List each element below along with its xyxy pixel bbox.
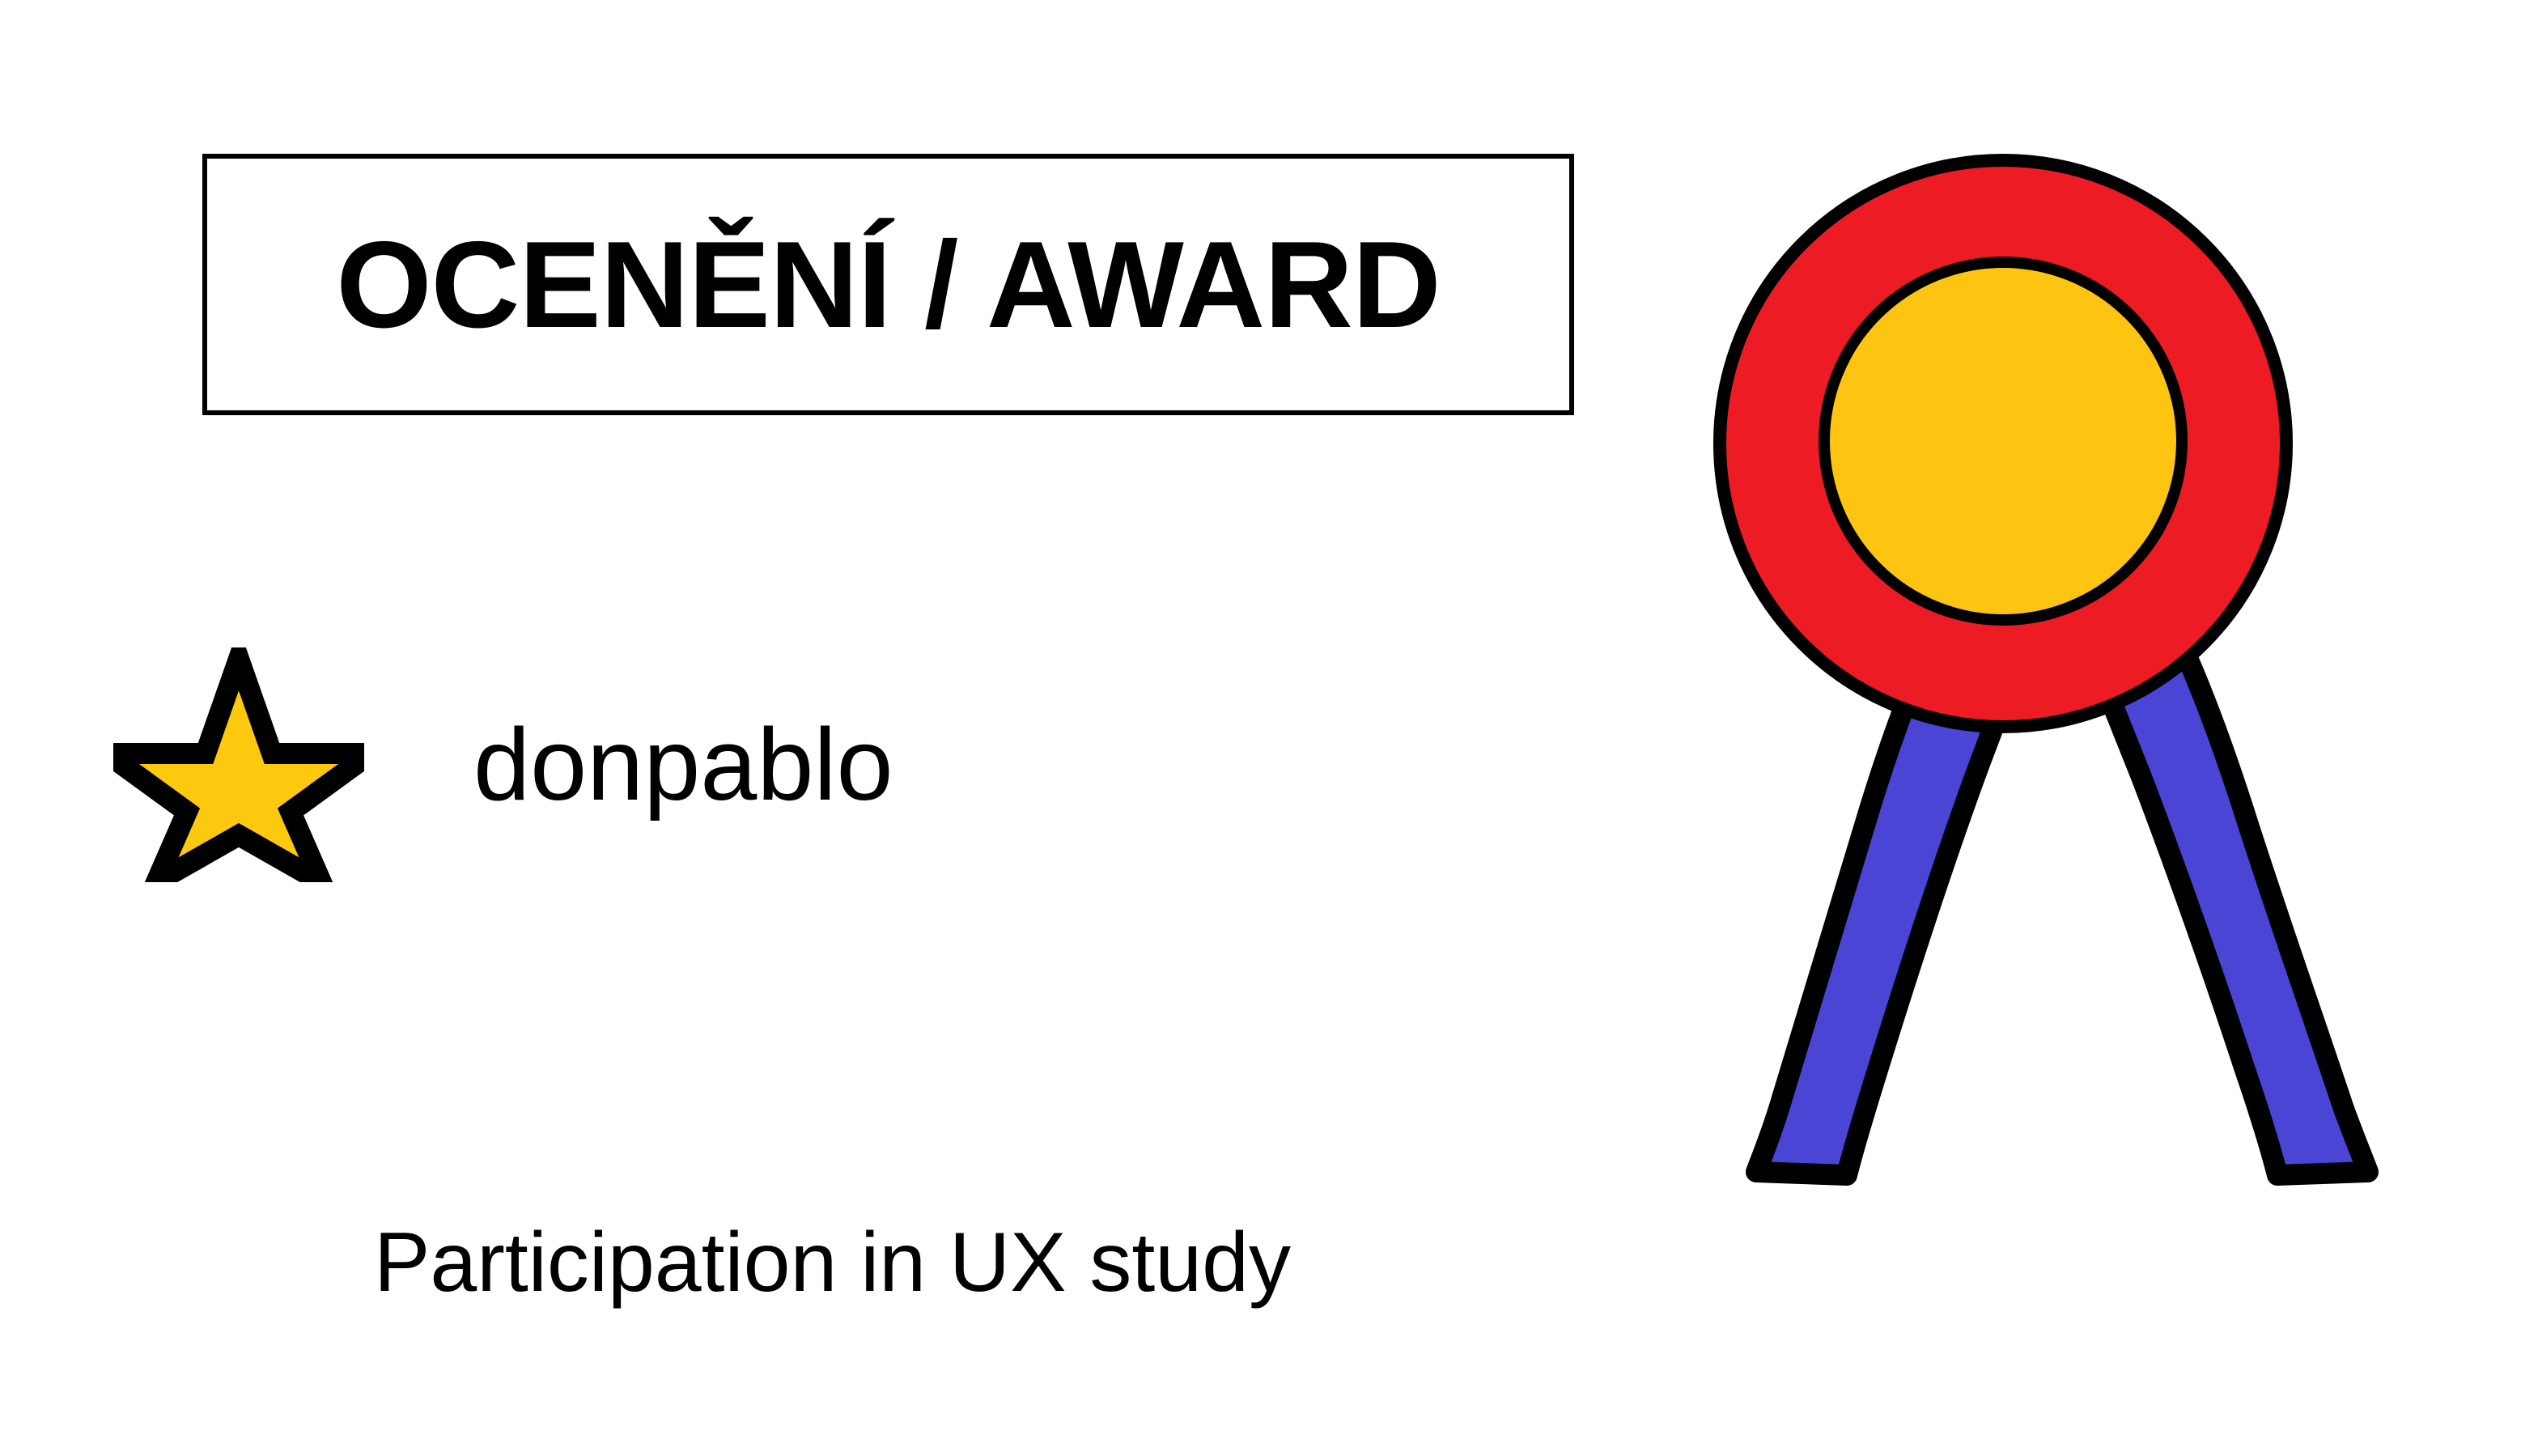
award-title-text: OCENĚNÍ / AWARD (207, 159, 1569, 410)
award-rosette-icon (1635, 138, 2476, 1206)
recipient-row: donpablo (113, 647, 1165, 882)
award-certificate-canvas: OCENĚNÍ / AWARD donpablo Participation i… (0, 0, 2521, 1456)
recipient-name: donpablo (473, 647, 893, 882)
star-icon (113, 647, 364, 882)
award-caption: Participation in UX study (374, 1212, 1291, 1314)
award-title-box: OCENĚNÍ / AWARD (202, 154, 1574, 415)
medal-inner-circle (1824, 262, 2182, 620)
